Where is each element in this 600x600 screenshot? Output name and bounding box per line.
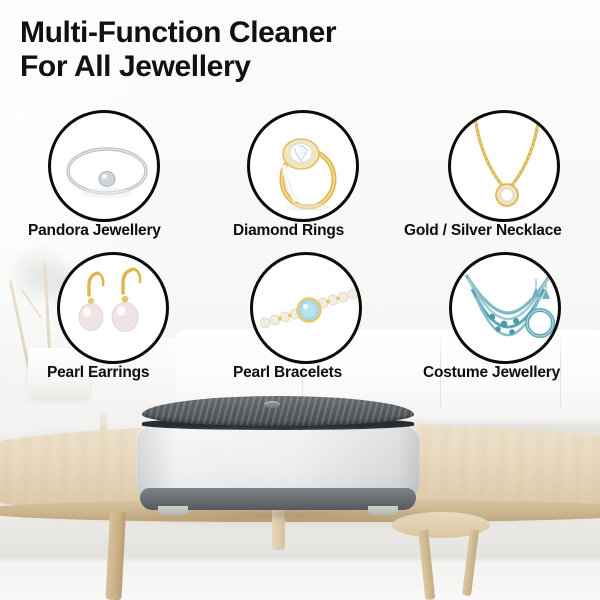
pearl-drop-earrings-icon: [60, 255, 166, 361]
ultrasonic-jewellery-cleaner: [136, 396, 426, 526]
page-title: Multi-Function Cleaner For All Jewellery: [20, 16, 580, 84]
gold-diamond-ring-icon: [250, 113, 356, 219]
category-label: Pandora Jewellery: [28, 222, 161, 240]
gold-chain-pendant-necklace-icon: [451, 113, 557, 219]
category-circle: [448, 110, 560, 222]
silver-bangle-bracelet-icon: [51, 113, 157, 219]
sofa-cushion-seam: [560, 334, 561, 408]
category-circle: [247, 110, 359, 222]
category-circle: [48, 110, 160, 222]
turquoise-costume-jewellery-set-icon: [452, 255, 558, 361]
category-label: Pearl Earrings: [47, 364, 149, 382]
cleaner-foot: [158, 506, 188, 515]
category-label: Gold / Silver Necklace: [404, 222, 562, 240]
category-circle: [449, 252, 561, 364]
category-circle: [250, 252, 362, 364]
cleaner-lid: [142, 396, 414, 426]
category-label: Diamond Rings: [233, 222, 344, 240]
cleaner-foot: [368, 506, 398, 515]
category-circle: [57, 252, 169, 364]
category-label: Pearl Bracelets: [233, 364, 342, 382]
category-label: Costume Jewellery: [423, 364, 560, 382]
white-rug: [0, 560, 600, 600]
twig: [21, 289, 42, 318]
product-infographic: Multi-Function Cleaner For All Jewellery…: [0, 0, 600, 600]
pearl-bracelet-blue-gem-icon: [253, 255, 359, 361]
cleaner-power-button[interactable]: [264, 401, 280, 408]
